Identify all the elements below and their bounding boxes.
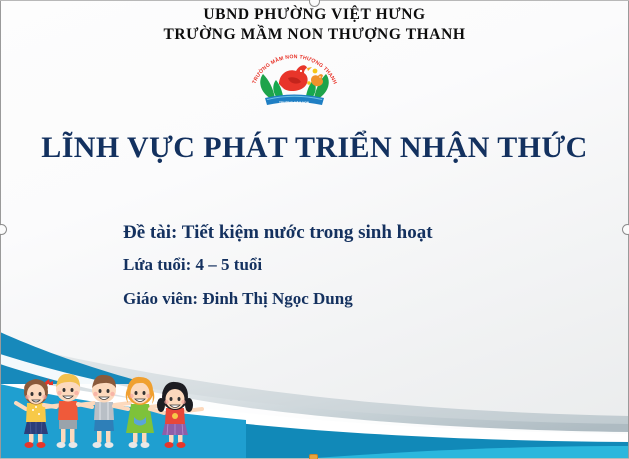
kid-girl-black-pigtails — [150, 382, 202, 448]
kid-boy-brown-hair — [78, 375, 130, 448]
logo-banner-text: TRƯỜNG MẦM NON — [279, 100, 310, 105]
page-title: LĨNH VỰC PHÁT TRIỂN NHẬN THỨC — [0, 131, 629, 165]
header-line-2: TRƯỜNG MẦM NON THƯỢNG THANH — [0, 25, 629, 45]
logo-star-1 — [313, 69, 318, 74]
kid-girl-brown-hair-red-bow — [16, 379, 62, 448]
children-illustration — [8, 361, 238, 451]
logo-star-2 — [307, 81, 311, 85]
resize-handle-left-middle[interactable] — [0, 224, 7, 235]
slide-body-text: Đề tài: Tiết kiệm nước trong sinh hoạt L… — [123, 218, 433, 316]
topic-line: Đề tài: Tiết kiệm nước trong sinh hoạt — [123, 218, 433, 248]
age-line: Lứa tuổi: 4 – 5 tuổi — [123, 248, 433, 282]
resize-handle-right-middle[interactable] — [622, 224, 629, 235]
logo-leaf-left — [260, 74, 275, 100]
presentation-slide[interactable]: UBND PHƯỜNG VIỆT HƯNG TRƯỜNG MẦM NON THƯ… — [0, 0, 629, 459]
teacher-line: Giáo viên: Đinh Thị Ngọc Dung — [123, 282, 433, 316]
resize-handle-bottom-center[interactable] — [309, 454, 318, 459]
school-header: UBND PHƯỜNG VIỆT HƯNG TRƯỜNG MẦM NON THƯ… — [0, 5, 629, 45]
school-logo: TRƯỜNG MẦM NON THƯỢNG THANH TRƯỜNG MẦM N… — [243, 50, 346, 108]
kid-boy-blond-hair — [44, 374, 94, 448]
header-line-1: UBND PHƯỜNG VIỆT HƯNG — [0, 5, 629, 25]
